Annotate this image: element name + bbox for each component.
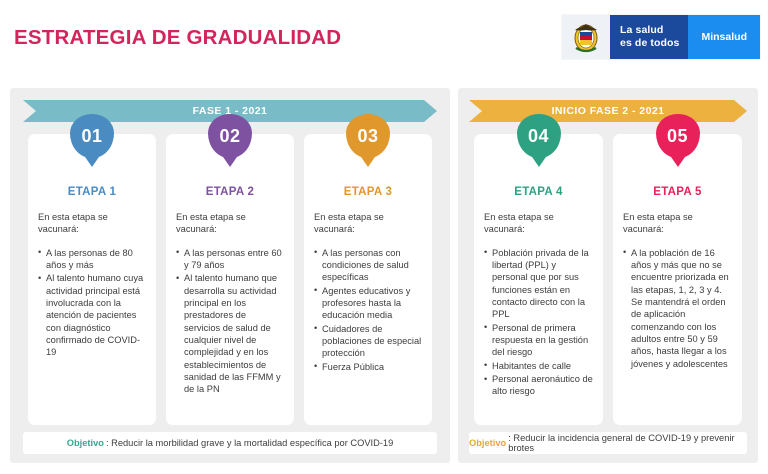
stage-bullet-item: Población privada de la libertad (PPL) y…	[484, 247, 593, 321]
colombia-coat-of-arms-icon	[562, 15, 610, 59]
stage-number: 05	[667, 127, 688, 145]
stage-bullet-item: A las personas entre 60 y 79 años	[176, 247, 284, 272]
stage-pin-icon: 03	[346, 114, 390, 166]
stage-intro: En esta etapa se vacunará:	[176, 211, 284, 236]
stage-label: ETAPA 1	[38, 186, 146, 198]
stage-intro: En esta etapa se vacunará:	[314, 211, 422, 236]
stage-intro: En esta etapa se vacunará:	[38, 211, 146, 236]
page-title: ESTRATEGIA DE GRADUALIDAD	[14, 26, 341, 50]
minsalud-logo: La salud es de todos Minsalud	[562, 15, 760, 59]
page-header: ESTRATEGIA DE GRADUALIDAD La salud es de…	[0, 0, 768, 80]
objective-bar: Objetivo : Reducir la incidencia general…	[469, 432, 747, 454]
stage-bullet-list: A la población de 16 años y más que no s…	[623, 247, 732, 371]
stage-bullet-item: A la población de 16 años y más que no s…	[623, 247, 732, 371]
stage-intro: En esta etapa se vacunará:	[484, 211, 593, 236]
stage-card[interactable]: 04 ETAPA 4 En esta etapa se vacunará: Po…	[474, 134, 603, 425]
stage-pin-icon: 02	[208, 114, 252, 166]
stage-number: 03	[357, 127, 378, 145]
stage-label: ETAPA 4	[484, 186, 593, 198]
stage-number: 01	[81, 127, 102, 145]
logo-slogan-line2: es de todos	[620, 37, 679, 50]
logo-slogan-line1: La salud	[620, 24, 679, 37]
logo-slogan: La salud es de todos	[610, 15, 688, 59]
objective-text: : Reducir la morbilidad grave y la morta…	[106, 438, 393, 448]
stage-card[interactable]: 01 ETAPA 1 En esta etapa se vacunará: A …	[28, 134, 156, 425]
stage-bullet-item: Personal aeronáutico de alto riesgo	[484, 373, 593, 398]
stage-card[interactable]: 03 ETAPA 3 En esta etapa se vacunará: A …	[304, 134, 432, 425]
objective-key: Objetivo	[67, 438, 104, 448]
stage-number: 02	[219, 127, 240, 145]
stage-bullet-list: Población privada de la libertad (PPL) y…	[484, 247, 593, 398]
stage-bullet-item: Agentes educativos y profesores hasta la…	[314, 285, 422, 322]
stage-label: ETAPA 3	[314, 186, 422, 198]
stage-intro: En esta etapa se vacunará:	[623, 211, 732, 236]
stage-bullet-item: A las personas con condiciones de salud …	[314, 247, 422, 284]
stage-bullet-list: A las personas de 80 años y másAl talent…	[38, 247, 146, 359]
stage-bullet-item: Personal de primera respuesta en la gest…	[484, 322, 593, 359]
objective-key: Objetivo	[469, 438, 506, 448]
stage-card[interactable]: 02 ETAPA 2 En esta etapa se vacunará: A …	[166, 134, 294, 425]
stage-bullet-list: A las personas entre 60 y 79 añosAl tale…	[176, 247, 284, 396]
stage-label: ETAPA 5	[623, 186, 732, 198]
stage-bullet-item: Cuidadores de poblaciones de especial pr…	[314, 323, 422, 360]
stage-bullet-item: Fuerza Pública	[314, 361, 422, 373]
phase-panel-fase-1: FASE 1 - 2021 01 ETAPA 1 En esta etapa s…	[10, 88, 450, 463]
objective-bar: Objetivo : Reducir la morbilidad grave y…	[23, 432, 437, 454]
stage-card[interactable]: 05 ETAPA 5 En esta etapa se vacunará: A …	[613, 134, 742, 425]
stage-bullet-list: A las personas con condiciones de salud …	[314, 247, 422, 374]
stage-pin-icon: 05	[656, 114, 700, 166]
objective-text: : Reducir la incidencia general de COVID…	[508, 433, 747, 453]
stage-number: 04	[528, 127, 549, 145]
stage-card-list-fase-2: 04 ETAPA 4 En esta etapa se vacunará: Po…	[469, 134, 747, 425]
phase-panel-fase-2: INICIO FASE 2 - 2021 04 ETAPA 4 En esta …	[458, 88, 758, 463]
stage-bullet-item: Al talento humano que desarrolla su acti…	[176, 272, 284, 396]
phase-banner-fase-2: INICIO FASE 2 - 2021	[469, 100, 747, 122]
stage-bullet-item: Al talento humano cuya actividad princip…	[38, 272, 146, 359]
logo-brand: Minsalud	[688, 15, 760, 59]
stage-pin-icon: 01	[70, 114, 114, 166]
stage-bullet-item: A las personas de 80 años y más	[38, 247, 146, 272]
stage-pin-icon: 04	[517, 114, 561, 166]
stage-bullet-item: Habitantes de calle	[484, 360, 593, 372]
stage-card-list-fase-1: 01 ETAPA 1 En esta etapa se vacunará: A …	[23, 134, 437, 425]
stage-label: ETAPA 2	[176, 186, 284, 198]
